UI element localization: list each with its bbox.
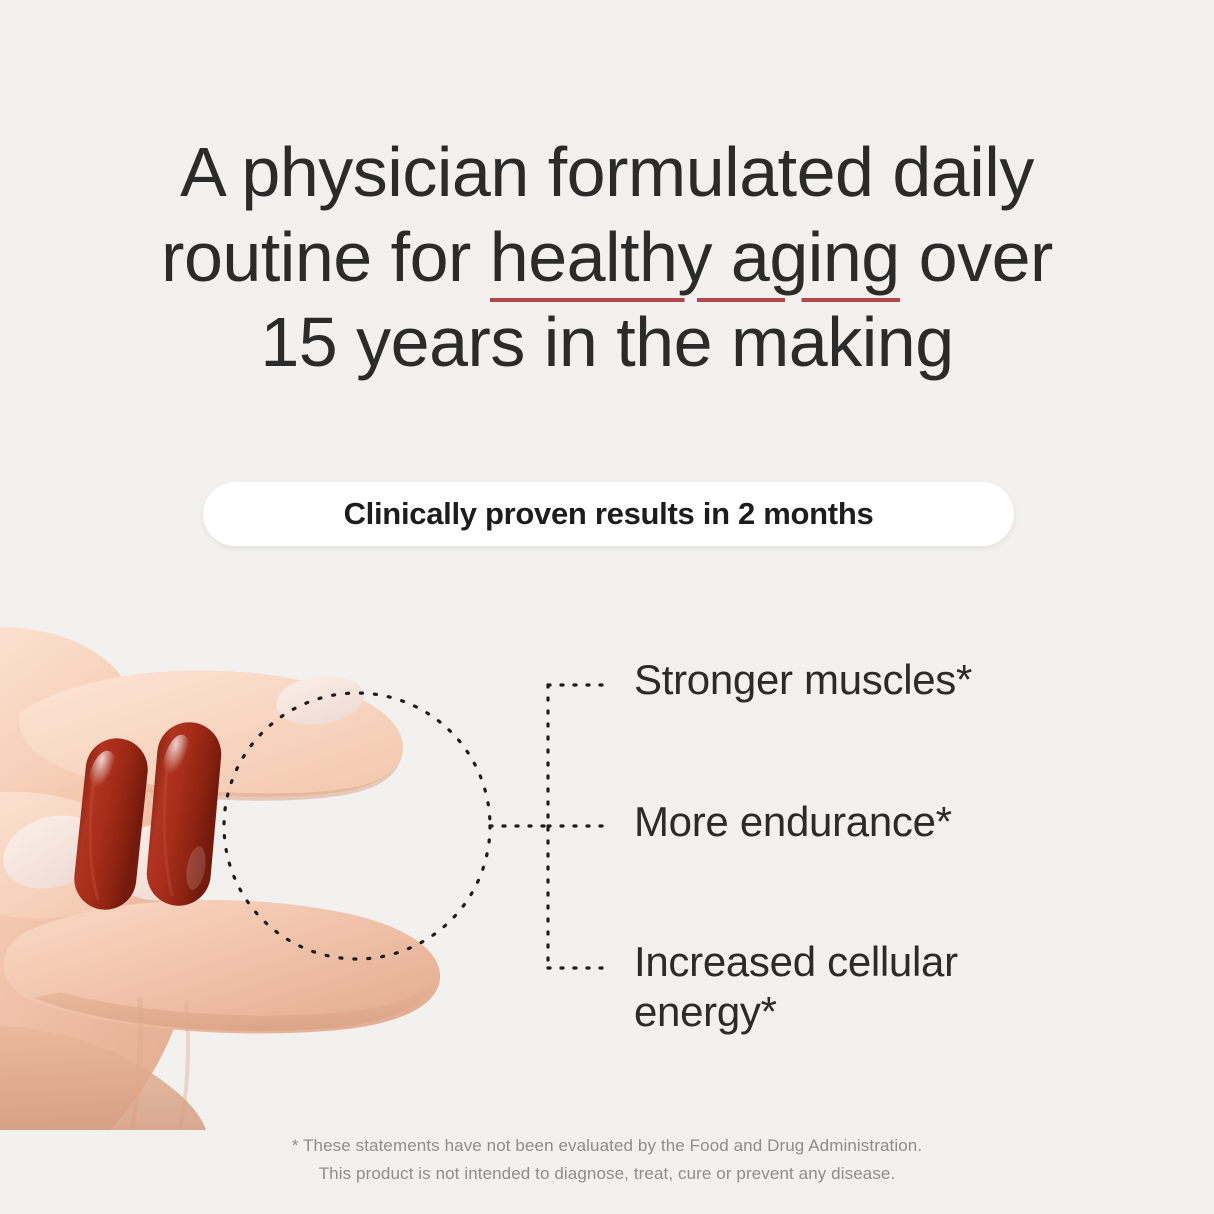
status-badge-label: Clinically proven results in 2 months	[344, 496, 874, 532]
disclaimer: * These statements have not been evaluat…	[0, 1132, 1214, 1188]
disclaimer-line-2: This product is not intended to diagnose…	[0, 1160, 1214, 1188]
status-badge: Clinically proven results in 2 months	[203, 482, 1014, 546]
headline-line-2-suffix: over	[900, 218, 1053, 296]
marketing-card: A physician formulated daily routine for…	[0, 0, 1214, 1214]
product-photo	[0, 600, 520, 1130]
benefit-item-increased-cellular-energy: Increased cellular energy*	[634, 937, 958, 1037]
headline-line-3: 15 years in the making	[90, 300, 1124, 385]
hand-holding-capsules-illustration	[0, 600, 520, 1130]
headline-line-2-prefix: routine for	[161, 218, 490, 296]
page-title: A physician formulated daily routine for…	[0, 130, 1214, 385]
benefit-item-more-endurance: More endurance*	[634, 797, 952, 847]
benefit-item-stronger-muscles: Stronger muscles*	[634, 655, 972, 705]
headline-line-2: routine for healthy aging over	[90, 215, 1124, 300]
headline-highlight-healthy-aging: healthy aging	[490, 215, 900, 300]
headline-line-1: A physician formulated daily	[90, 130, 1124, 215]
disclaimer-line-1: * These statements have not been evaluat…	[0, 1132, 1214, 1160]
